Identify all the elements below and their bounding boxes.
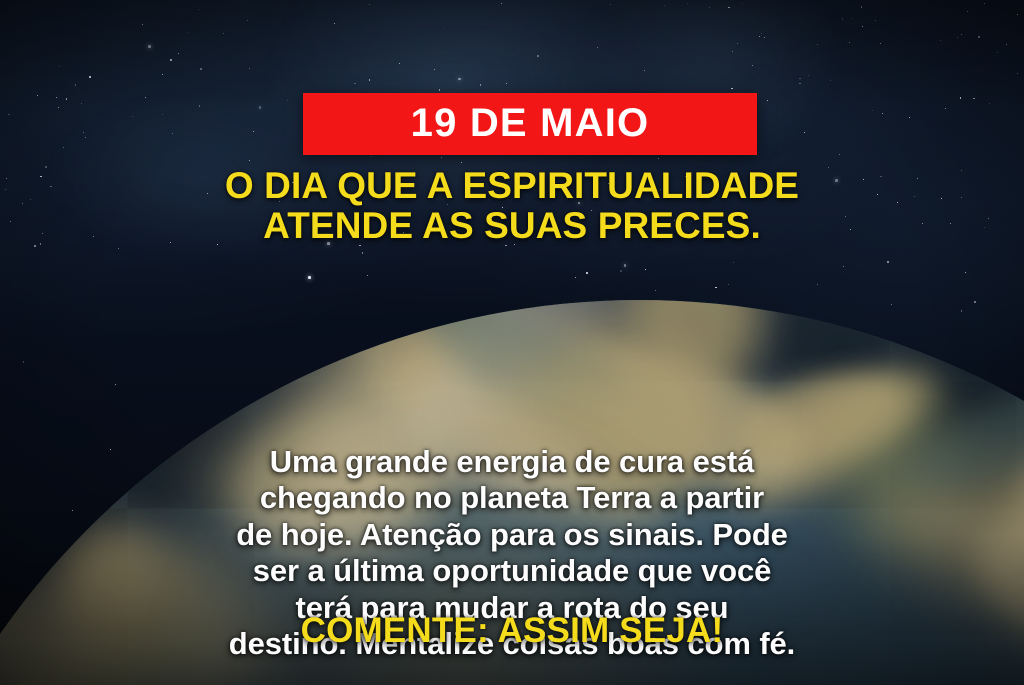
body-line-2: chegando no planeta Terra a partir	[46, 480, 978, 516]
poster-canvas: 19 DE MAIO O DIA QUE A ESPIRITUALIDADE A…	[0, 0, 1024, 685]
headline-line-2: ATENDE AS SUAS PRECES.	[40, 206, 984, 246]
call-to-action-text: COMENTE: ASSIM SEJA!	[0, 613, 1024, 648]
body-line-1: Uma grande energia de cura está	[46, 444, 978, 480]
date-banner: 19 DE MAIO	[303, 93, 757, 155]
headline-line-1: O DIA QUE A ESPIRITUALIDADE	[40, 166, 984, 206]
headline: O DIA QUE A ESPIRITUALIDADE ATENDE AS SU…	[0, 166, 1024, 246]
date-banner-label: 19 DE MAIO	[411, 103, 650, 143]
body-line-4: ser a última oportunidade que você	[46, 553, 978, 589]
poster-content: 19 DE MAIO O DIA QUE A ESPIRITUALIDADE A…	[0, 0, 1024, 685]
body-line-3: de hoje. Atenção para os sinais. Pode	[46, 517, 978, 553]
